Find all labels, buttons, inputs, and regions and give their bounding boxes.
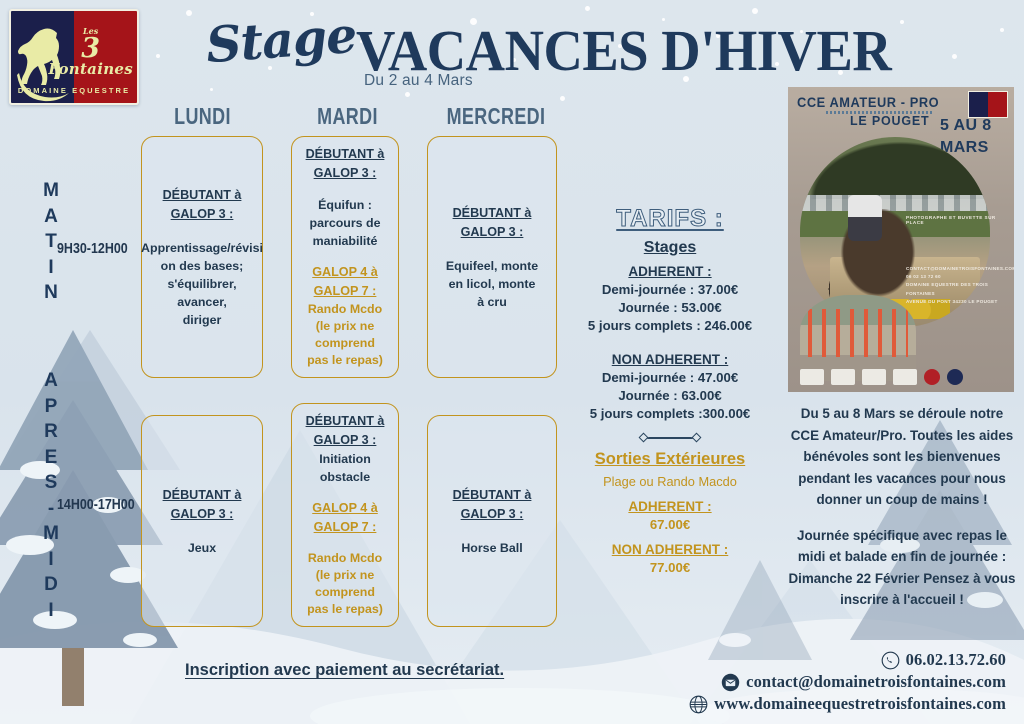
- tarifs-adherent-line-3: 5 jours complets : 246.00€: [560, 318, 780, 333]
- card-3-line-1: GALOP 3 :: [171, 505, 234, 524]
- tarifs-non-adherent-line-3: 5 jours complets :300.00€: [560, 406, 780, 421]
- logo-wordmark: Les 3 Fontaines: [48, 27, 133, 77]
- footer-email: contact@domainetroisfontaines.com: [746, 672, 1006, 692]
- footer-email-row[interactable]: contact@domainetroisfontaines.com: [696, 672, 1006, 692]
- right-info-paragraph-1: Du 5 au 8 Mars se déroule notre CCE Amat…: [786, 403, 1018, 511]
- card-2-line-5: à cru: [477, 293, 507, 311]
- card-4-line-1: GALOP 3 :: [314, 431, 377, 450]
- cce-poster-contact: CONTACT@DOMAINETROISFONTAINES.COM 06 02 …: [906, 265, 1010, 306]
- card-4-line-6: GALOP 7 :: [314, 518, 377, 537]
- day-header-lundi: LUNDI: [162, 103, 244, 130]
- card-4-line-2: Initiation: [319, 450, 371, 468]
- card-5-line-0: DÉBUTANT à: [453, 486, 532, 505]
- sponsor-logo-4: [893, 369, 917, 385]
- globe-icon: [689, 695, 708, 714]
- sorties-adherent-label: ADHERENT :: [560, 499, 780, 514]
- card-1-line-0: DÉBUTANT à: [306, 145, 385, 164]
- card-1-line-9: Rando Mcdo: [308, 301, 382, 318]
- apres-midi-letter-8: D: [38, 572, 64, 598]
- tarifs-stages-heading: Stages: [560, 239, 780, 257]
- card-5-line-3: Horse Ball: [461, 539, 522, 557]
- inscription-note: Inscription avec paiement au secrétariat…: [185, 661, 504, 680]
- cce-poster-caption: PHOTOGRAPHE ET BUVETTE SUR PLACE: [906, 215, 1014, 225]
- schedule-card-mercredi-apres-midi[interactable]: DÉBUTANT àGALOP 3 :Horse Ball: [427, 415, 557, 627]
- card-1-line-5: maniabilité: [313, 232, 378, 250]
- card-4-line-9: (le prix ne: [316, 567, 375, 584]
- card-3-line-0: DÉBUTANT à: [163, 486, 242, 505]
- apres-midi-letter-1: P: [38, 394, 64, 420]
- section-divider: [560, 434, 780, 441]
- cce-contact-phone: 06 02 13 72 60: [906, 273, 1010, 281]
- footer-phone: 06.02.13.72.60: [906, 650, 1006, 670]
- apres-midi-letter-2: R: [38, 419, 64, 445]
- tarifs-non-adherent-label: NON ADHERENT :: [560, 352, 780, 367]
- phone-icon: [881, 651, 900, 670]
- schedule-card-mardi-apres-midi[interactable]: DÉBUTANT àGALOP 3 :InitiationobstacleGAL…: [291, 403, 399, 627]
- divider-diamond-left: [639, 433, 649, 443]
- session-time-apres-midi: 14H00-17H00: [57, 497, 135, 513]
- card-1-line-7: GALOP 4 à: [312, 263, 378, 282]
- card-4-line-5: GALOP 4 à: [312, 499, 378, 518]
- tarifs-adherent-line-1: Demi-journée : 37.00€: [560, 282, 780, 297]
- card-2-line-1: GALOP 3 :: [461, 223, 524, 242]
- date-subtitle: Du 2 au 4 Mars: [364, 72, 473, 90]
- envelope-icon: [721, 673, 740, 692]
- card-2-line-3: Equifeel, monte: [446, 257, 538, 275]
- matin-letter-4: N: [38, 280, 64, 306]
- card-1-line-12: pas le repas): [307, 352, 383, 369]
- footer-website: www.domaineequestretroisfontaines.com: [714, 694, 1006, 714]
- cce-event-poster: CCE AMATEUR - PRO LE POUGET 5 AU 8 MARS …: [788, 87, 1014, 392]
- tarifs-title: TARIFS :: [560, 205, 780, 233]
- sorties-subtitle: Plage ou Rando Macdo: [560, 474, 780, 489]
- card-0-line-6: diriger: [183, 311, 222, 329]
- logo-number: 3: [48, 35, 133, 62]
- card-1-line-4: parcours de: [310, 214, 381, 232]
- session-label-apres-midi: APRES-MIDI: [38, 368, 64, 623]
- brand-logo: Les 3 Fontaines DOMAINE EQUESTRE: [9, 9, 139, 105]
- card-2-line-4: en licol, monte: [449, 275, 536, 293]
- card-0-line-3: Apprentissage/révisi: [141, 239, 263, 257]
- logo-fontaines: Fontaines: [48, 62, 133, 77]
- sorties-title: Sorties Extérieures: [560, 450, 780, 469]
- card-1-line-1: GALOP 3 :: [314, 164, 377, 183]
- schedule-card-lundi-matin[interactable]: DÉBUTANT àGALOP 3 :Apprentissage/révisio…: [141, 136, 263, 378]
- sponsor-logo-1: [800, 369, 824, 385]
- card-0-line-1: GALOP 3 :: [171, 205, 234, 224]
- apres-midi-letter-7: I: [38, 547, 64, 573]
- sponsor-logo-3: [862, 369, 886, 385]
- card-4-line-11: pas le repas): [307, 601, 383, 618]
- sorties-non-adherent-price: 77.00€: [560, 560, 780, 575]
- matin-letter-0: M: [38, 178, 64, 204]
- right-info-block: Du 5 au 8 Mars se déroule notre CCE Amat…: [786, 403, 1018, 611]
- schedule-card-lundi-apres-midi[interactable]: DÉBUTANT àGALOP 3 :Jeux: [141, 415, 263, 627]
- cce-contact-email: CONTACT@DOMAINETROISFONTAINES.COM: [906, 265, 1010, 273]
- card-4-line-3: obstacle: [320, 468, 370, 486]
- right-info-paragraph-2: Journée spécifique avec repas le midi et…: [786, 525, 1018, 611]
- poster-canvas: Les 3 Fontaines DOMAINE EQUESTRE Stage V…: [0, 0, 1024, 724]
- card-1-line-3: Équifun :: [318, 196, 372, 214]
- day-header-mardi: MARDI: [307, 103, 389, 130]
- card-0-line-4: on des bases;: [161, 257, 244, 275]
- cce-poster-title: CCE AMATEUR - PRO: [797, 95, 939, 110]
- sorties-non-adherent-label: NON ADHERENT :: [560, 542, 780, 557]
- stage-script-title: Stage: [204, 6, 358, 74]
- card-5-line-1: GALOP 3 :: [461, 505, 524, 524]
- card-3-line-3: Jeux: [188, 539, 216, 557]
- cce-poster-place: LE POUGET: [850, 114, 929, 128]
- cce-contact-name: DOMAINE EQUESTRE DES TROIS FONTAINES: [906, 281, 1010, 297]
- sorties-adherent-price: 67.00€: [560, 517, 780, 532]
- card-1-line-10: (le prix ne: [316, 318, 375, 335]
- apres-midi-letter-9: I: [38, 598, 64, 624]
- tarifs-non-adherent-line-1: Demi-journée : 47.00€: [560, 370, 780, 385]
- card-2-line-0: DÉBUTANT à: [453, 204, 532, 223]
- cce-brand-logo-icon: [968, 91, 1008, 118]
- cce-contact-address: AVENUE DU PONT 34230 LE POUGET: [906, 298, 1010, 306]
- card-1-line-11: comprend: [315, 335, 375, 352]
- divider-bar: [647, 437, 693, 439]
- card-0-line-0: DÉBUTANT à: [163, 186, 242, 205]
- session-time-matin: 9H30-12H00: [57, 241, 128, 257]
- schedule-card-mercredi-matin[interactable]: DÉBUTANT àGALOP 3 :Equifeel, monteen lic…: [427, 136, 557, 378]
- matin-letter-1: A: [38, 204, 64, 230]
- footer-contacts: 06.02.13.72.60 contact@domainetroisfonta…: [696, 650, 1006, 716]
- divider-diamond-right: [692, 433, 702, 443]
- tarifs-section: TARIFS : Stages ADHERENT : Demi-journée …: [560, 205, 780, 575]
- footer-website-row[interactable]: www.domaineequestretroisfontaines.com: [696, 694, 1006, 714]
- tarifs-adherent-label: ADHERENT :: [560, 264, 780, 279]
- apres-midi-letter-6: M: [38, 521, 64, 547]
- cce-sponsor-logos: [800, 368, 1000, 386]
- card-4-line-10: comprend: [315, 584, 375, 601]
- card-4-line-0: DÉBUTANT à: [306, 412, 385, 431]
- day-header-mercredi: MERCREDI: [446, 103, 546, 130]
- sponsor-logo-6: [947, 369, 963, 385]
- logo-subtitle: DOMAINE EQUESTRE: [11, 86, 137, 95]
- sponsor-logo-2: [831, 369, 855, 385]
- footer-phone-row[interactable]: 06.02.13.72.60: [696, 650, 1006, 670]
- matin-letter-3: I: [38, 255, 64, 281]
- card-0-line-5: s'équilibrer, avancer,: [148, 275, 256, 311]
- schedule-card-mardi-matin[interactable]: DÉBUTANT àGALOP 3 :Équifun :parcours dem…: [291, 136, 399, 378]
- tarifs-non-adherent-line-2: Journée : 63.00€: [560, 388, 780, 403]
- sponsor-logo-5: [924, 369, 940, 385]
- apres-midi-letter-3: E: [38, 445, 64, 471]
- card-4-line-8: Rando Mcdo: [308, 550, 382, 567]
- apres-midi-letter-0: A: [38, 368, 64, 394]
- tarifs-adherent-line-2: Journée : 53.00€: [560, 300, 780, 315]
- apres-midi-letter-4: S: [38, 470, 64, 496]
- card-1-line-8: GALOP 7 :: [314, 282, 377, 301]
